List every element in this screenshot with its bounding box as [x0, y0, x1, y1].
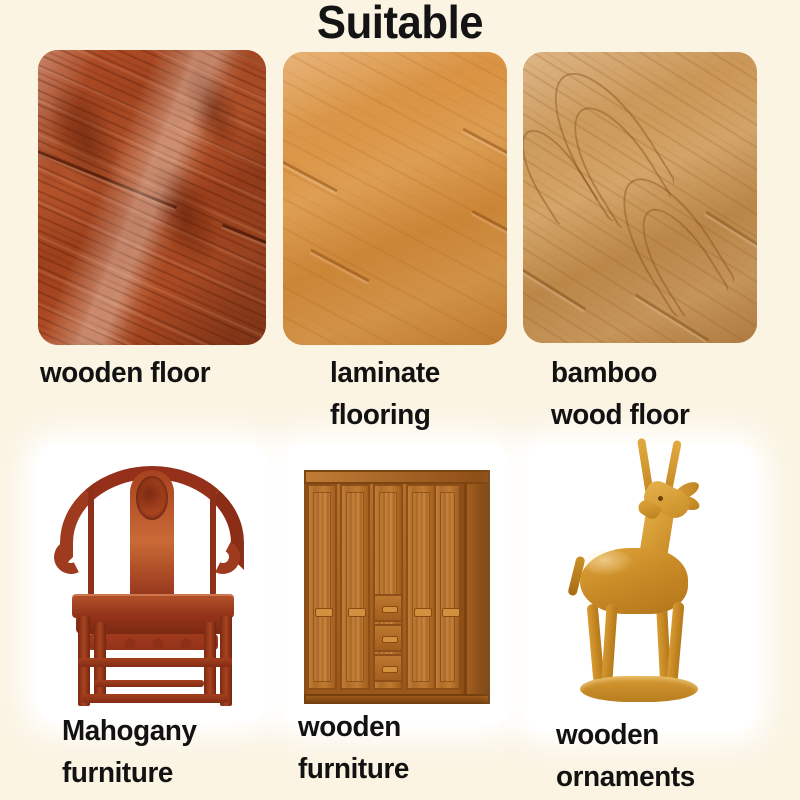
wardrobe-door-panel: [412, 492, 430, 682]
image-wooden-furniture: [282, 444, 510, 726]
image-laminate-flooring: [283, 52, 507, 345]
wardrobe-door: [434, 484, 461, 690]
image-wooden-floor: [38, 50, 266, 345]
wardrobe-door-panel: [313, 492, 331, 682]
wardrobe-handle: [315, 608, 333, 617]
antelope-leg: [601, 604, 617, 683]
wardrobe-side-panel: [464, 470, 490, 698]
wardrobe-handle: [382, 636, 398, 643]
chair-stretcher: [78, 658, 232, 667]
image-bamboo-wood-floor: [523, 52, 757, 343]
mahogany-armchair-illustration: [36, 444, 268, 722]
wardrobe-handle: [382, 666, 398, 673]
caption-laminate-flooring: laminate flooring: [330, 352, 522, 436]
wardrobe-drawer: [373, 654, 403, 682]
image-wooden-ornaments: [524, 444, 756, 732]
surface-gloss: [38, 50, 266, 345]
antelope-eye: [658, 496, 663, 501]
wardrobe-top: [304, 470, 490, 484]
caption-wooden-floor: wooden floor: [40, 352, 280, 394]
page-title: Suitable: [20, 0, 780, 48]
wardrobe-handle: [348, 608, 366, 617]
antelope-leg: [667, 602, 685, 683]
wood-grain-lines: [283, 52, 507, 345]
chair-stretcher: [82, 694, 228, 703]
wardrobe-handle: [442, 608, 460, 617]
wardrobe-door: [340, 484, 370, 690]
infographic-page: Suitable wooden floor laminate flooring: [0, 0, 800, 800]
wardrobe-door-panel: [346, 492, 364, 682]
wooden-antelope-illustration: [524, 444, 756, 732]
wood-sheen: [584, 550, 634, 576]
chair-spindle: [210, 488, 216, 596]
caption-wooden-furniture: wooden furniture: [298, 706, 519, 790]
wardrobe-drawer: [373, 624, 403, 652]
wardrobe-drawer: [373, 594, 403, 622]
wardrobe-door: [406, 484, 436, 690]
chair-spindle: [88, 488, 94, 596]
chair-carving: [136, 476, 168, 520]
antelope-base: [580, 676, 698, 702]
wardrobe-plinth: [304, 694, 490, 704]
chair-seat: [72, 594, 234, 618]
chair-fretwork: [88, 634, 218, 650]
caption-mahogany-furniture: Mahogany furniture: [62, 710, 292, 794]
wooden-wardrobe-illustration: [282, 444, 510, 726]
wardrobe-handle: [414, 608, 432, 617]
image-mahogany-furniture: [36, 444, 268, 722]
wardrobe-door-panel: [440, 492, 455, 682]
caption-bamboo-wood-floor: bamboo wood floor: [551, 352, 772, 436]
caption-wooden-ornaments: wooden ornaments: [556, 714, 786, 798]
wardrobe-door: [307, 484, 337, 690]
chair-stretcher: [94, 680, 204, 687]
wardrobe-handle: [382, 606, 398, 613]
